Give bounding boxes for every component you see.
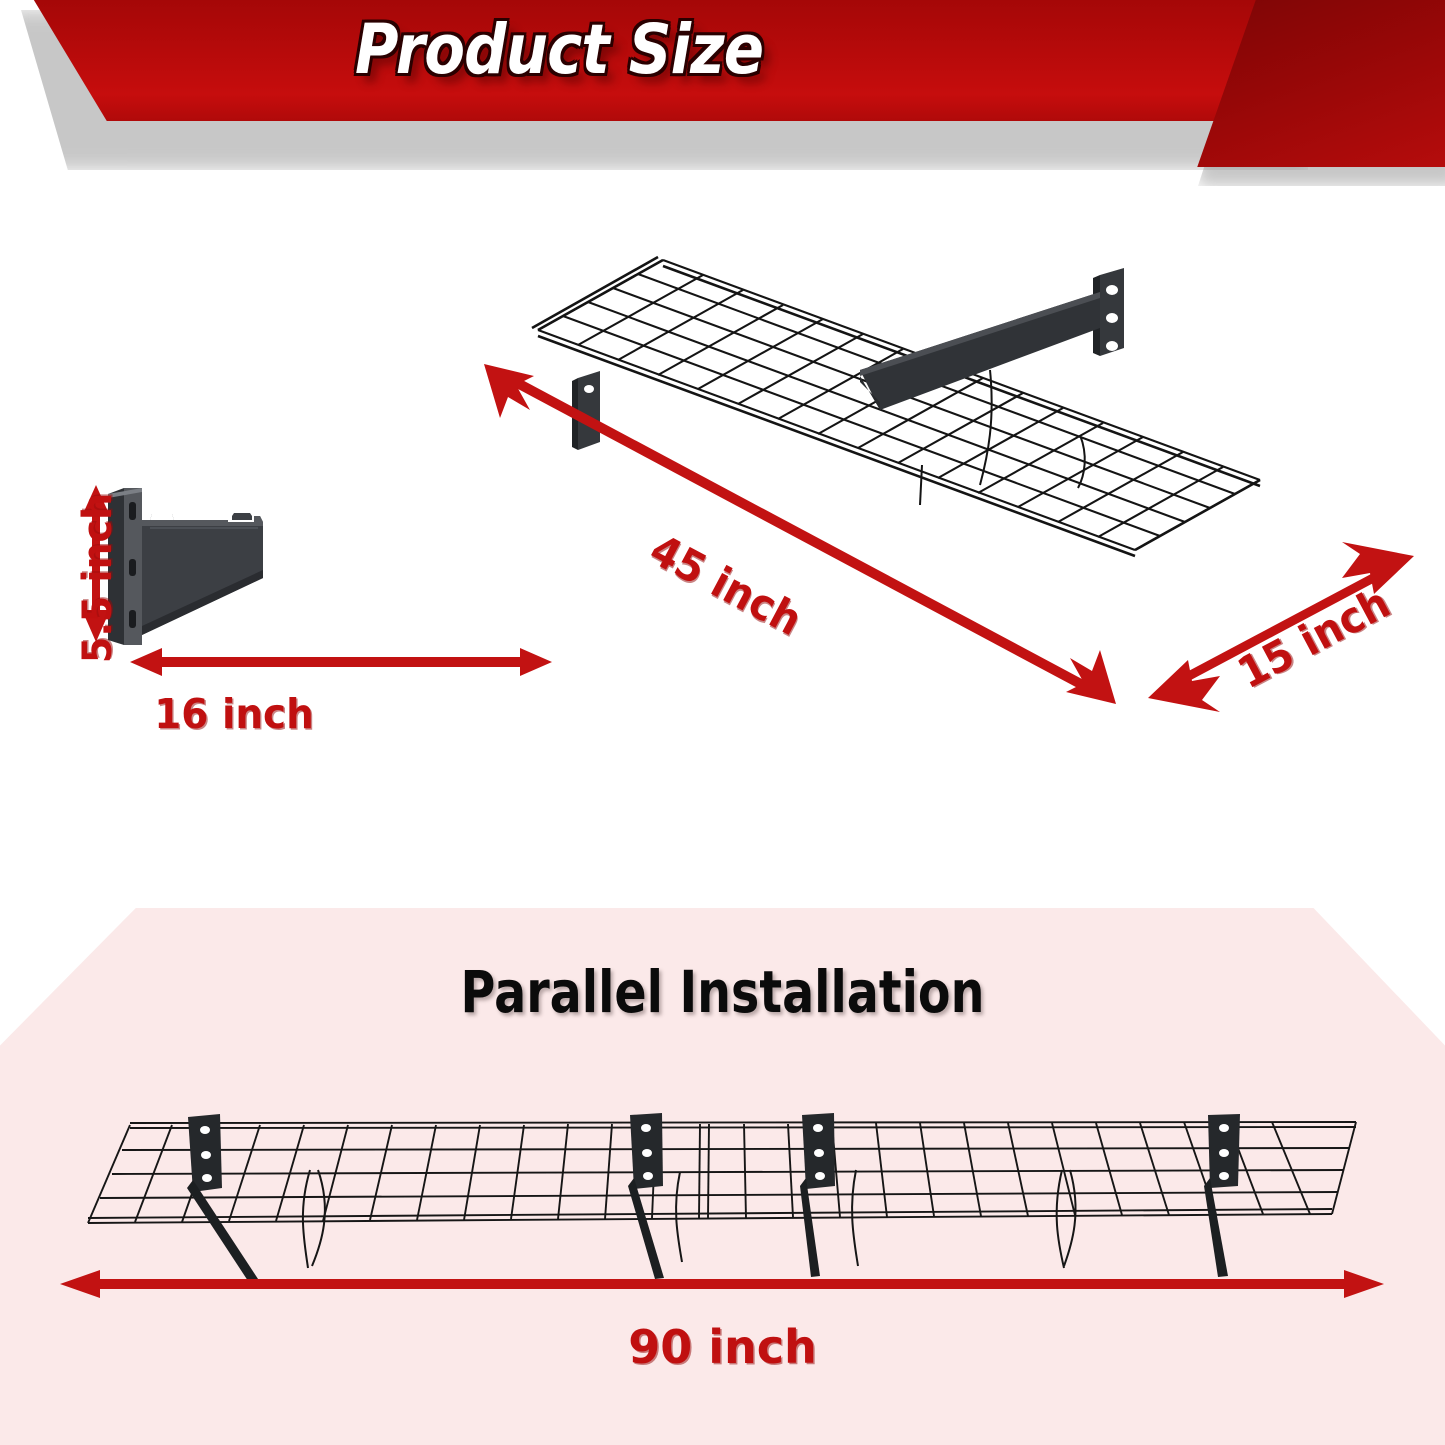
parallel-bracket-1	[187, 1114, 260, 1284]
parallel-shelf-deck	[88, 1122, 1356, 1223]
header-banner: Product Size	[0, 0, 1445, 200]
bracket-height-label: 5.5 inch	[75, 474, 121, 683]
parallel-shelf-diagram	[60, 1070, 1390, 1300]
bracket-depth-label: 16 inch	[154, 690, 314, 738]
parallel-installation-title: Parallel Installation	[130, 958, 1315, 1026]
parallel-bracket-4	[1204, 1114, 1240, 1277]
page-title: Product Size	[355, 16, 763, 85]
parallel-total-length-label: 90 inch	[0, 1320, 1445, 1374]
parallel-length-arrow	[60, 1270, 1384, 1298]
infographic-canvas: Product Size	[0, 0, 1445, 1445]
bracket-arm	[142, 511, 263, 635]
shelf-wire-deck	[532, 257, 1260, 556]
